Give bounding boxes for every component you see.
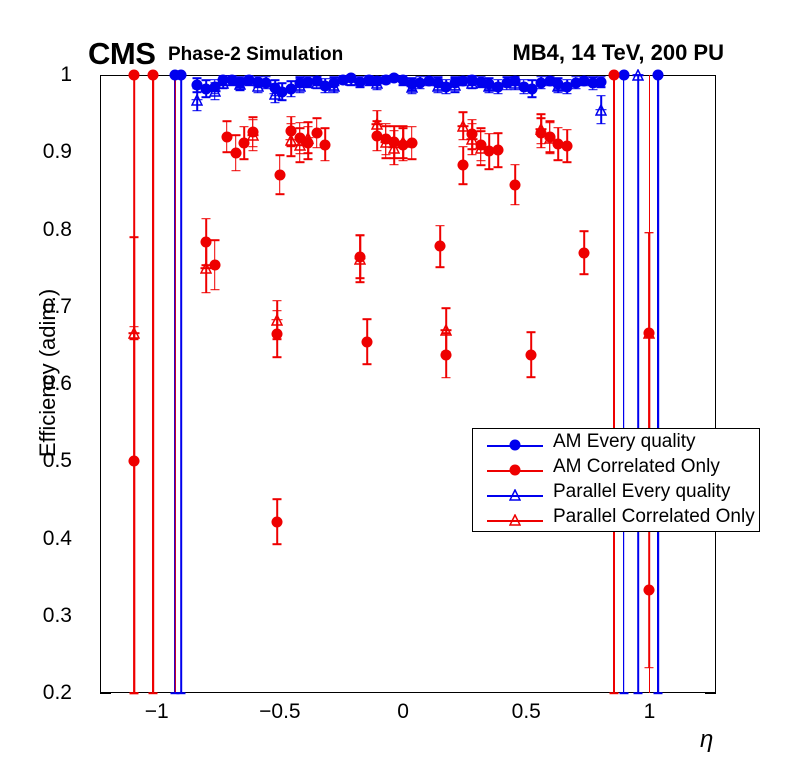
error-bar-cap [390, 130, 399, 132]
error-bar-cap [399, 125, 408, 127]
legend-marker-open-triangle [509, 513, 521, 525]
marker-open-triangle [200, 261, 212, 273]
error-bar-cap [381, 158, 390, 160]
legend-item-2[interactable]: Parallel Every quality [479, 482, 755, 508]
error-bar-cap [304, 152, 313, 154]
legend-item-0[interactable]: AM Every quality [479, 432, 755, 458]
error-bar-cap [355, 281, 364, 283]
error-bar-cap [390, 164, 399, 166]
error-bar-cap [248, 119, 257, 121]
series-parallel-correlated-only [0, 0, 796, 772]
legend-marker-filled-circle [510, 440, 521, 451]
marker-open-triangle [128, 326, 140, 338]
marker-open-triangle [397, 135, 409, 147]
legend-label: AM Every quality [553, 431, 696, 453]
marker-open-triangle [457, 119, 469, 131]
error-bar-cap [537, 114, 546, 116]
marker-open-triangle [643, 326, 655, 338]
legend-item-3[interactable]: Parallel Correlated Only [479, 507, 755, 533]
error-bar-cap [295, 128, 304, 130]
error-bar-cap [645, 232, 654, 234]
marker-open-triangle [354, 252, 366, 264]
error-bar-cap [201, 292, 210, 294]
marker-open-triangle [544, 131, 556, 143]
error-bar-cap [201, 243, 210, 245]
error-bar-cap [545, 153, 554, 155]
error-bar-cap [442, 351, 451, 353]
error-bar-cap [286, 123, 295, 125]
legend-marker-filled-circle [510, 465, 521, 476]
error-bar-cap [272, 338, 281, 340]
error-bar-cap [355, 235, 364, 237]
marker-open-triangle [271, 313, 283, 325]
error-bar-cap [442, 307, 451, 309]
legend-label: Parallel Correlated Only [553, 506, 755, 528]
error-bar-cap [468, 123, 477, 125]
marker-open-triangle [371, 117, 383, 129]
error-bar-cap [295, 161, 304, 163]
error-bar-cap [476, 131, 485, 133]
error-bar-cap [545, 122, 554, 124]
legend[interactable]: AM Every qualityAM Correlated OnlyParall… [472, 428, 760, 532]
marker-open-triangle [302, 131, 314, 143]
marker-open-triangle [475, 141, 487, 153]
error-bar-cap [399, 158, 408, 160]
legend-item-1[interactable]: AM Correlated Only [479, 457, 755, 483]
plot-canvas: CMS Phase-2 Simulation MB4, 14 TeV, 200 … [0, 0, 796, 772]
error-bar-cap [476, 165, 485, 167]
error-bar-cap [304, 121, 313, 123]
error-bar-cap [286, 155, 295, 157]
error-bar-cap [248, 150, 257, 152]
error-bar-cap [459, 111, 468, 113]
legend-label: AM Correlated Only [553, 456, 720, 478]
error-bar-cap [381, 125, 390, 127]
legend-marker-open-triangle [509, 488, 521, 500]
legend-label: Parallel Every quality [553, 481, 730, 503]
marker-open-triangle [247, 128, 259, 140]
marker-open-triangle [440, 323, 452, 335]
error-bar-cap [373, 110, 382, 112]
error-bar-cap [272, 300, 281, 302]
